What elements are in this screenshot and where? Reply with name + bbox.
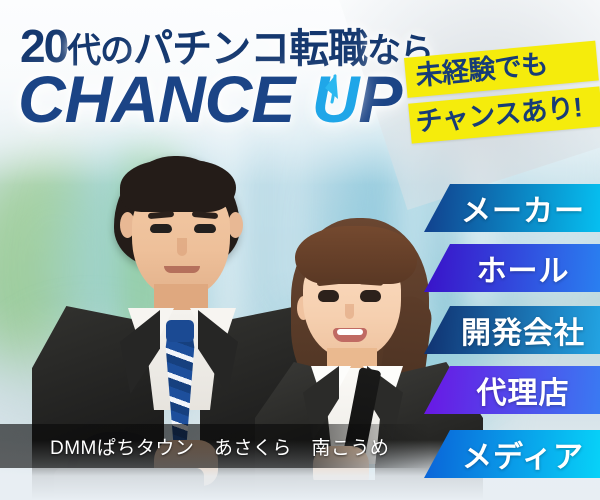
caption-bar: DMMぱちタウン あさくら 南こうめ	[0, 424, 430, 468]
ribbon-label-agency: 代理店	[455, 368, 570, 412]
ribbon-label-hall: ホール	[455, 246, 570, 290]
ribbon-development-company[interactable]: 開発会社	[424, 306, 600, 354]
caption-text: DMMぱちタウン あさくら 南こうめ	[0, 433, 389, 460]
recruitment-banner[interactable]: 20代のパチンコ転職なら CHANCE UP 未経験でも チャンスあり! メーカ…	[0, 0, 600, 500]
ribbon-label-maker: メーカー	[439, 186, 585, 230]
ribbon-maker[interactable]: メーカー	[424, 184, 600, 232]
ribbon-hall[interactable]: ホール	[424, 244, 600, 292]
ribbon-media[interactable]: メディア	[424, 430, 600, 478]
ribbon-label-development-company: 開発会社	[439, 308, 585, 352]
ribbon-label-media: メディア	[440, 432, 584, 476]
ribbon-agency[interactable]: 代理店	[424, 366, 600, 414]
